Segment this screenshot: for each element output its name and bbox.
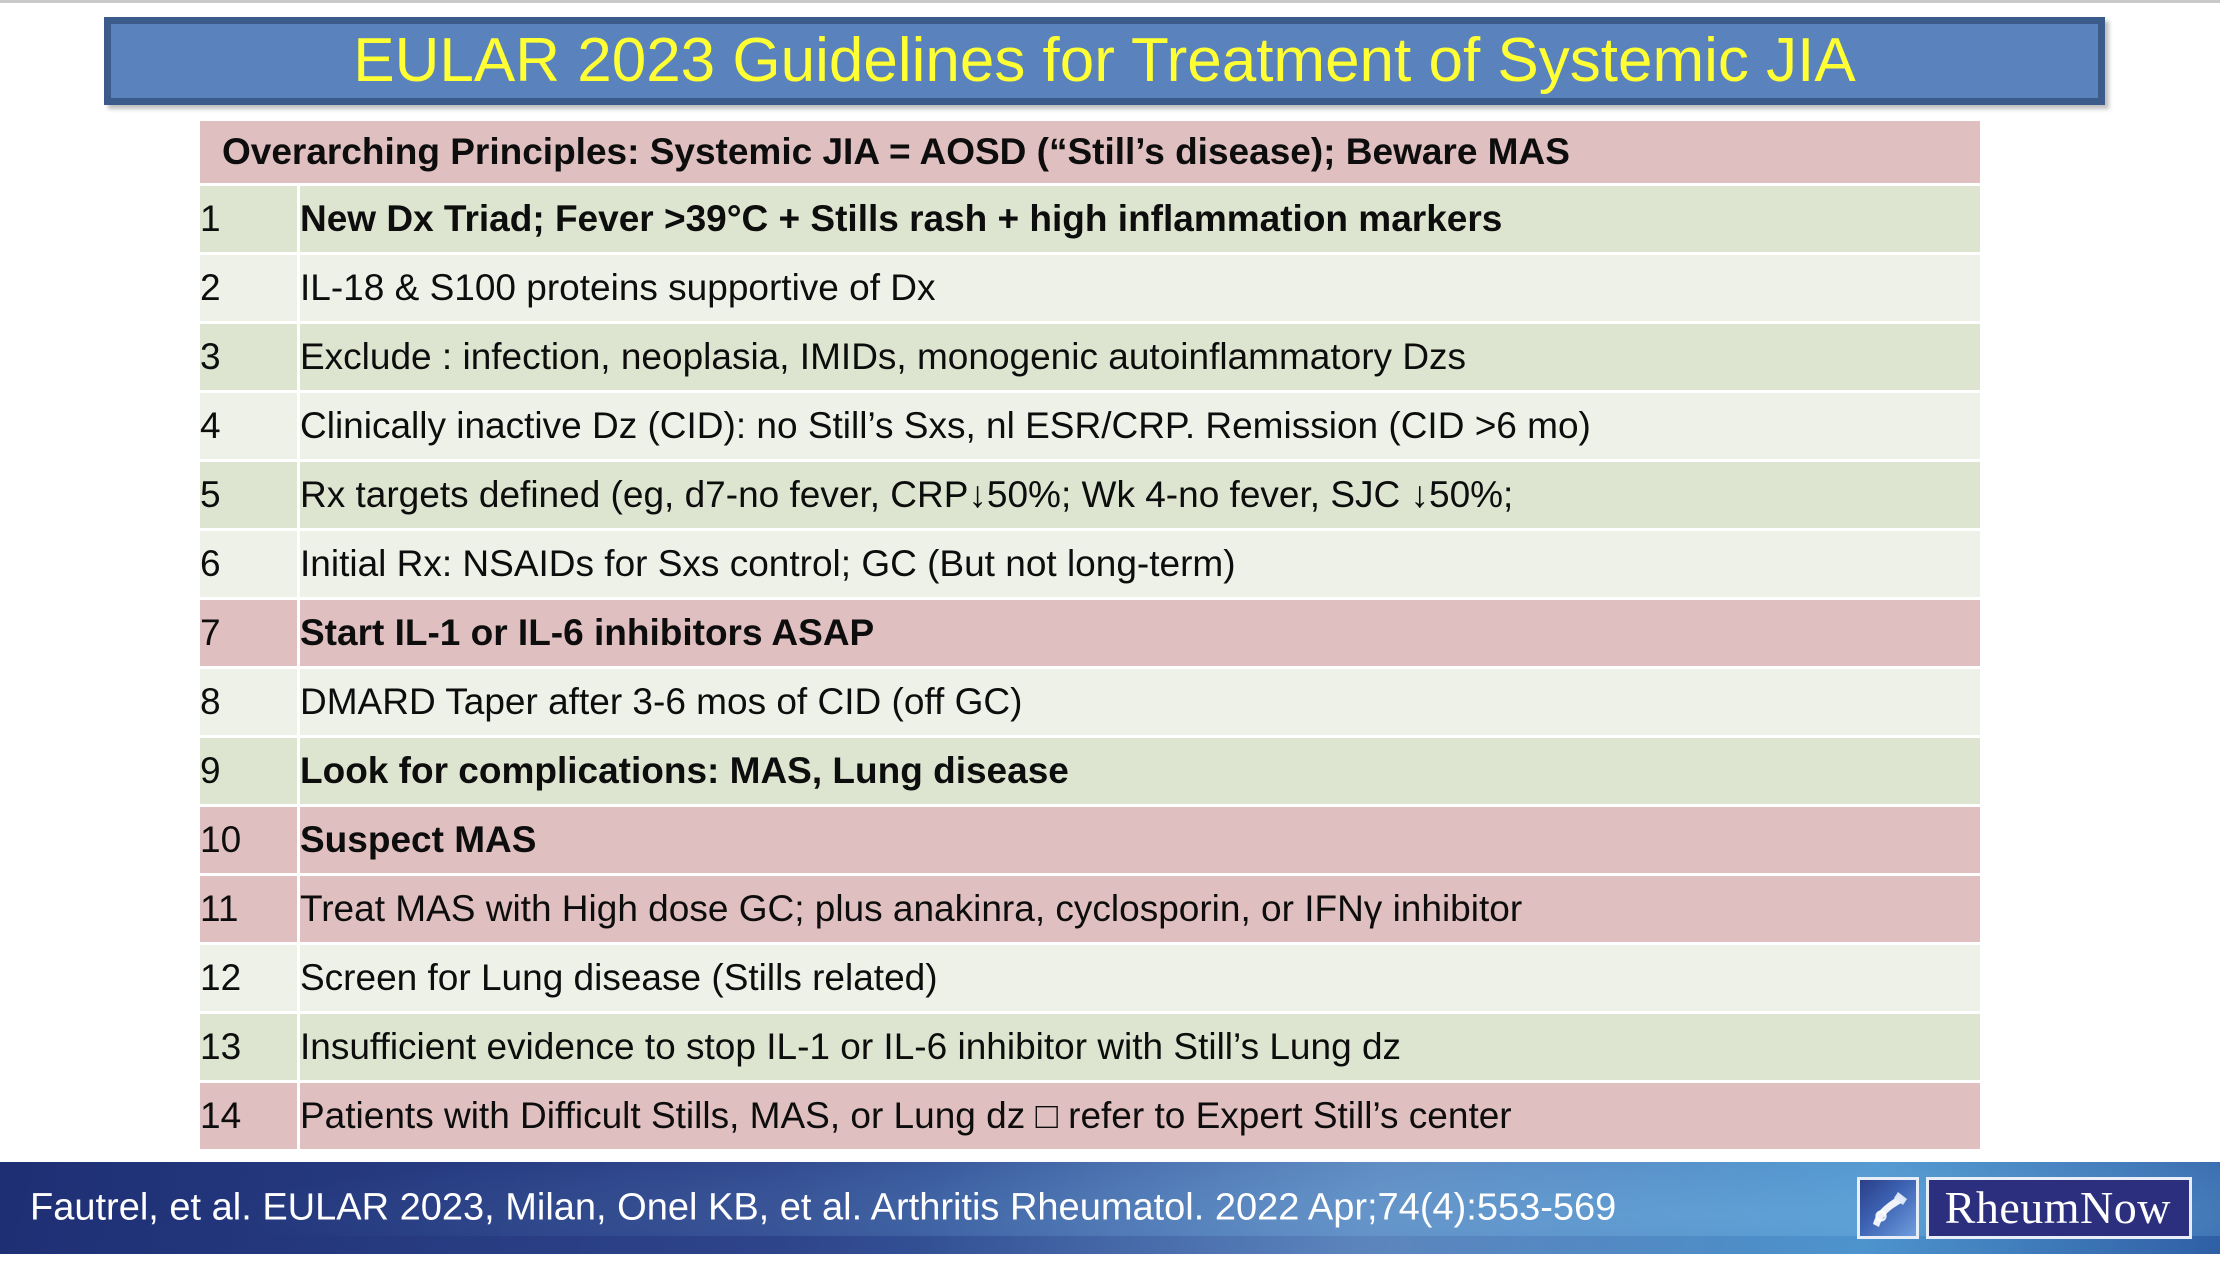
row-recommendation: Initial Rx: NSAIDs for Sxs control; GC (… [300,531,1980,597]
table-row: 14Patients with Difficult Stills, MAS, o… [200,1083,1980,1149]
table-row: 10Suspect MAS [200,807,1980,873]
overarching-principles-header: Overarching Principles: Systemic JIA = A… [200,121,1980,183]
table-row: 7Start IL-1 or IL-6 inhibitors ASAP [200,600,1980,666]
table-row: 6Initial Rx: NSAIDs for Sxs control; GC … [200,531,1980,597]
row-number: 2 [200,255,300,321]
row-recommendation: Insufficient evidence to stop IL-1 or IL… [300,1014,1980,1080]
guidelines-table: Overarching Principles: Systemic JIA = A… [200,118,1980,1152]
table-row: 2IL-18 & S100 proteins supportive of Dx [200,255,1980,321]
row-number: 13 [200,1014,300,1080]
row-recommendation: Patients with Difficult Stills, MAS, or … [300,1083,1980,1149]
table-row: 12Screen for Lung disease (Stills relate… [200,945,1980,1011]
row-number: 4 [200,393,300,459]
row-recommendation: Screen for Lung disease (Stills related) [300,945,1980,1011]
row-recommendation: IL-18 & S100 proteins supportive of Dx [300,255,1980,321]
table-row: 3Exclude : infection, neoplasia, IMIDs, … [200,324,1980,390]
table-row: 5Rx targets defined (eg, d7-no fever, CR… [200,462,1980,528]
citation-text: Fautrel, et al. EULAR 2023, Milan, Onel … [30,1187,1616,1230]
row-number: 3 [200,324,300,390]
table-header-row: Overarching Principles: Systemic JIA = A… [200,121,1980,183]
rheumnow-wordmark-text: RheumNow [1945,1185,2171,1231]
row-recommendation: Start IL-1 or IL-6 inhibitors ASAP [300,600,1980,666]
row-recommendation: Look for complications: MAS, Lung diseas… [300,738,1980,804]
table-row: 13Insufficient evidence to stop IL-1 or … [200,1014,1980,1080]
row-recommendation: Treat MAS with High dose GC; plus anakin… [300,876,1980,942]
rheumnow-logo[interactable]: RheumNow [1857,1177,2192,1239]
row-recommendation: Rx targets defined (eg, d7-no fever, CRP… [300,462,1980,528]
slide-title-banner: EULAR 2023 Guidelines for Treatment of S… [104,17,2105,105]
rheumnow-wordmark: RheumNow [1926,1177,2192,1239]
page-title: EULAR 2023 Guidelines for Treatment of S… [353,30,1855,92]
rheumnow-mark-icon [1857,1177,1919,1239]
footer-band: Fautrel, et al. EULAR 2023, Milan, Onel … [0,1162,2220,1254]
table-row: 9Look for complications: MAS, Lung disea… [200,738,1980,804]
top-rule [0,0,2220,3]
row-recommendation: New Dx Triad; Fever >39°C + Stills rash … [300,186,1980,252]
row-recommendation: Suspect MAS [300,807,1980,873]
row-number: 5 [200,462,300,528]
table-row: 11Treat MAS with High dose GC; plus anak… [200,876,1980,942]
row-number: 8 [200,669,300,735]
table-row: 8DMARD Taper after 3-6 mos of CID (off G… [200,669,1980,735]
row-number: 6 [200,531,300,597]
table-row: 1New Dx Triad; Fever >39°C + Stills rash… [200,186,1980,252]
table-row: 4Clinically inactive Dz (CID): no Still’… [200,393,1980,459]
row-number: 12 [200,945,300,1011]
guidelines-table-body: Overarching Principles: Systemic JIA = A… [200,121,1980,1149]
row-number: 9 [200,738,300,804]
row-recommendation: DMARD Taper after 3-6 mos of CID (off GC… [300,669,1980,735]
row-recommendation: Clinically inactive Dz (CID): no Still’s… [300,393,1980,459]
row-number: 11 [200,876,300,942]
row-number: 10 [200,807,300,873]
row-number: 7 [200,600,300,666]
row-number: 1 [200,186,300,252]
row-recommendation: Exclude : infection, neoplasia, IMIDs, m… [300,324,1980,390]
row-number: 14 [200,1083,300,1149]
